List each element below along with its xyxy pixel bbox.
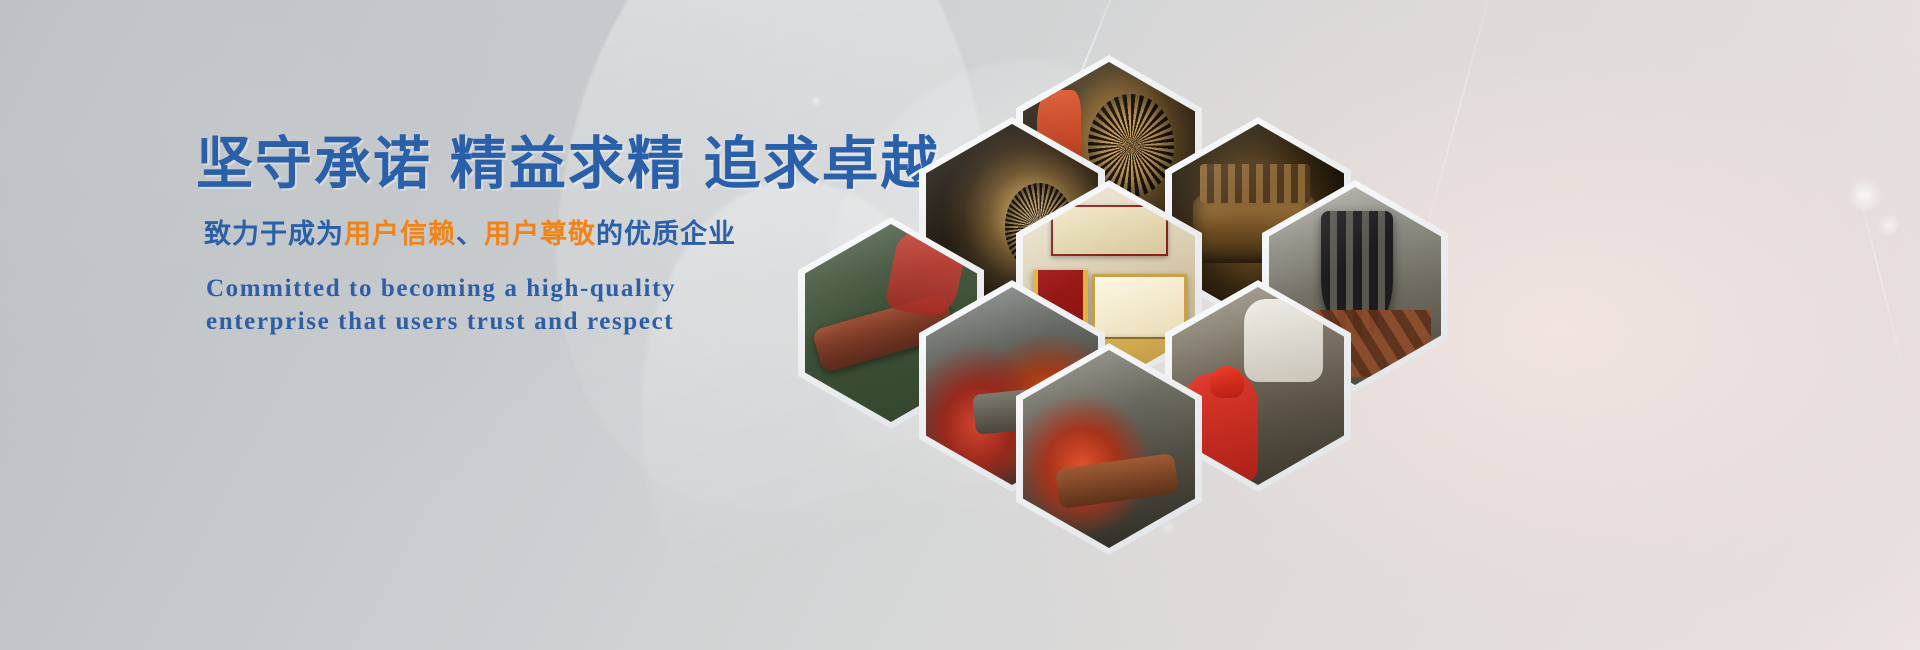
background-bokeh-dot: [1848, 178, 1882, 212]
subtitle-lead: 致力于成为: [204, 219, 344, 249]
hero-banner: 坚守承诺 精益求精 追求卓越 致力于成为用户信赖、用户尊敬的优质企业 Commi…: [0, 0, 1920, 650]
subtitle-highlight-trust: 用户信赖: [344, 219, 456, 249]
background-light-streak: [1851, 163, 1911, 396]
subtitle-separator: 、: [456, 219, 484, 249]
english-line-1: Committed to becoming a high-quality: [206, 275, 676, 302]
subtitle-tail: 的优质企业: [596, 219, 736, 249]
hexagon-photo-collage: [770, 55, 1430, 535]
subtitle-highlight-respect: 用户尊敬: [484, 219, 596, 249]
background-bokeh-dot: [1878, 214, 1900, 236]
